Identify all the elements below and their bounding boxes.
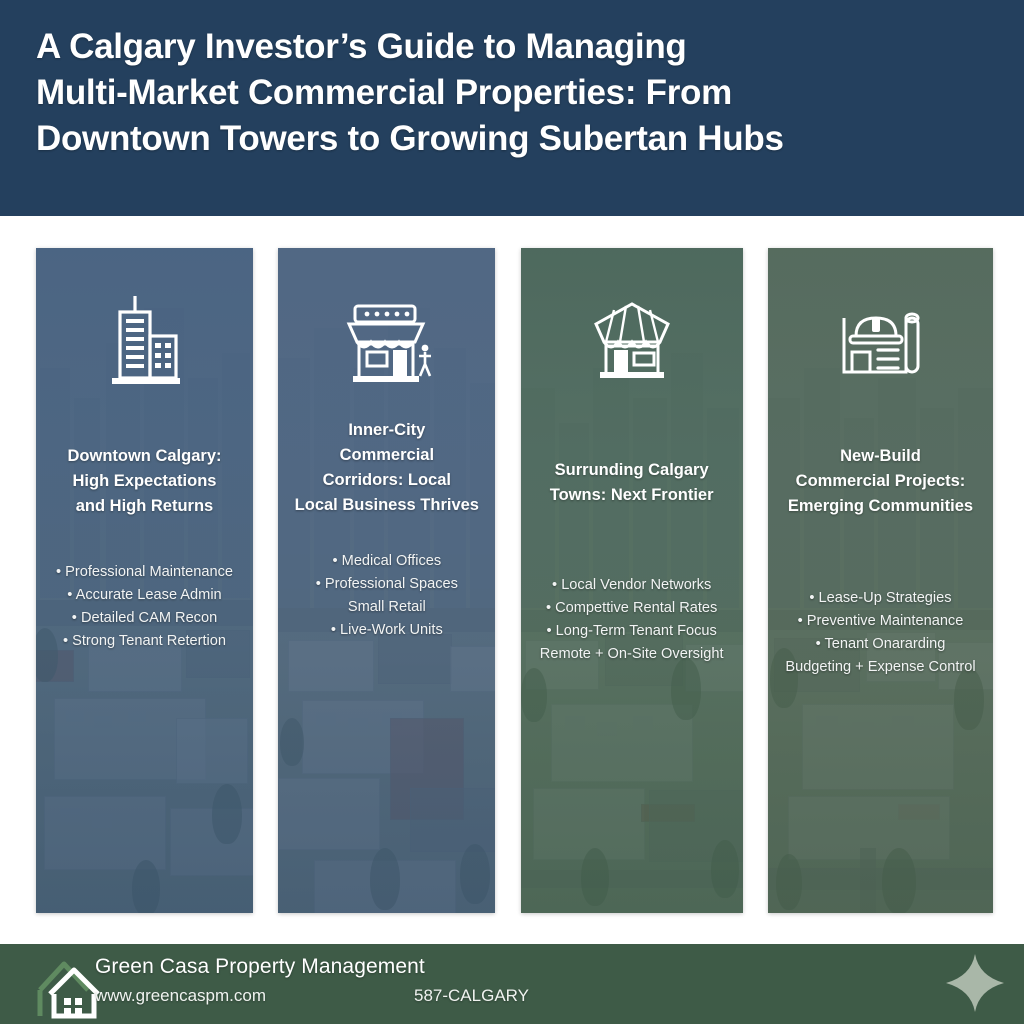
panel-bullet-list: • Lease-Up Strategies • Preventive Maint… (774, 587, 987, 679)
list-item: Small Retail (284, 596, 489, 619)
office-towers-icon (42, 292, 247, 388)
panel-bullet-list: • Local Vendor Networks • Compettive Ren… (527, 574, 737, 666)
list-item: Budgeting + Expense Control (774, 656, 987, 679)
footer-brand-name: Green Casa Property Management (95, 955, 425, 979)
header-banner: A Calgary Investor’s Guide to Managing M… (0, 0, 1024, 216)
list-item: Remote + On-Site Oversight (527, 643, 737, 666)
panel-bullet-list: • Professional Maintenance • Accurate Le… (42, 561, 247, 653)
panel-title: Inner-City Commercial Corridors: Local L… (284, 418, 489, 518)
list-item: • Strong Tenant Retertion (42, 630, 247, 653)
page-title: A Calgary Investor’s Guide to Managing M… (36, 24, 984, 162)
panel-inner-city-corridors[interactable]: Inner-City Commercial Corridors: Local L… (278, 248, 495, 913)
list-item: • Live-Work Units (284, 619, 489, 642)
list-item: • Lease-Up Strategies (774, 587, 987, 610)
list-item: • Local Vendor Networks (527, 574, 737, 597)
list-item: • Professional Spaces (284, 573, 489, 596)
list-item: • Preventive Maintenance (774, 610, 987, 633)
footer-phone-number[interactable]: 587-CALGARY (414, 986, 529, 1006)
list-item: • Accurate Lease Admin (42, 584, 247, 607)
four-point-star-icon (944, 952, 1006, 1014)
list-item: • Tenant Onararding (774, 633, 987, 656)
panel-bullet-list: • Medical Offices • Professional Spaces … (284, 550, 489, 642)
panel-title: Downtown Calgary: High Expectations and … (42, 444, 247, 519)
blueprint-hardhat-icon (774, 292, 987, 388)
panel-downtown-calgary[interactable]: Downtown Calgary: High Expectations and … (36, 248, 253, 913)
storefront-pedestrian-icon (284, 292, 489, 388)
panel-new-build-projects[interactable]: New-Build Commercial Projects: Emerging … (768, 248, 993, 913)
footer-website-url[interactable]: www.greencaspm.com (95, 986, 266, 1006)
panel-title: New-Build Commercial Projects: Emerging … (774, 444, 987, 519)
panel-row: Downtown Calgary: High Expectations and … (36, 248, 993, 913)
panel-title: Surrunding Calgary Towns: Next Frontier (527, 458, 737, 508)
list-item: • Professional Maintenance (42, 561, 247, 584)
storefront-awning-icon (527, 292, 737, 388)
list-item: • Medical Offices (284, 550, 489, 573)
list-item: • Detailed CAM Recon (42, 607, 247, 630)
list-item: • Long-Term Tenant Focus (527, 620, 737, 643)
panel-surrounding-towns[interactable]: Surrunding Calgary Towns: Next Frontier … (521, 248, 743, 913)
list-item: • Compettive Rental Rates (527, 597, 737, 620)
